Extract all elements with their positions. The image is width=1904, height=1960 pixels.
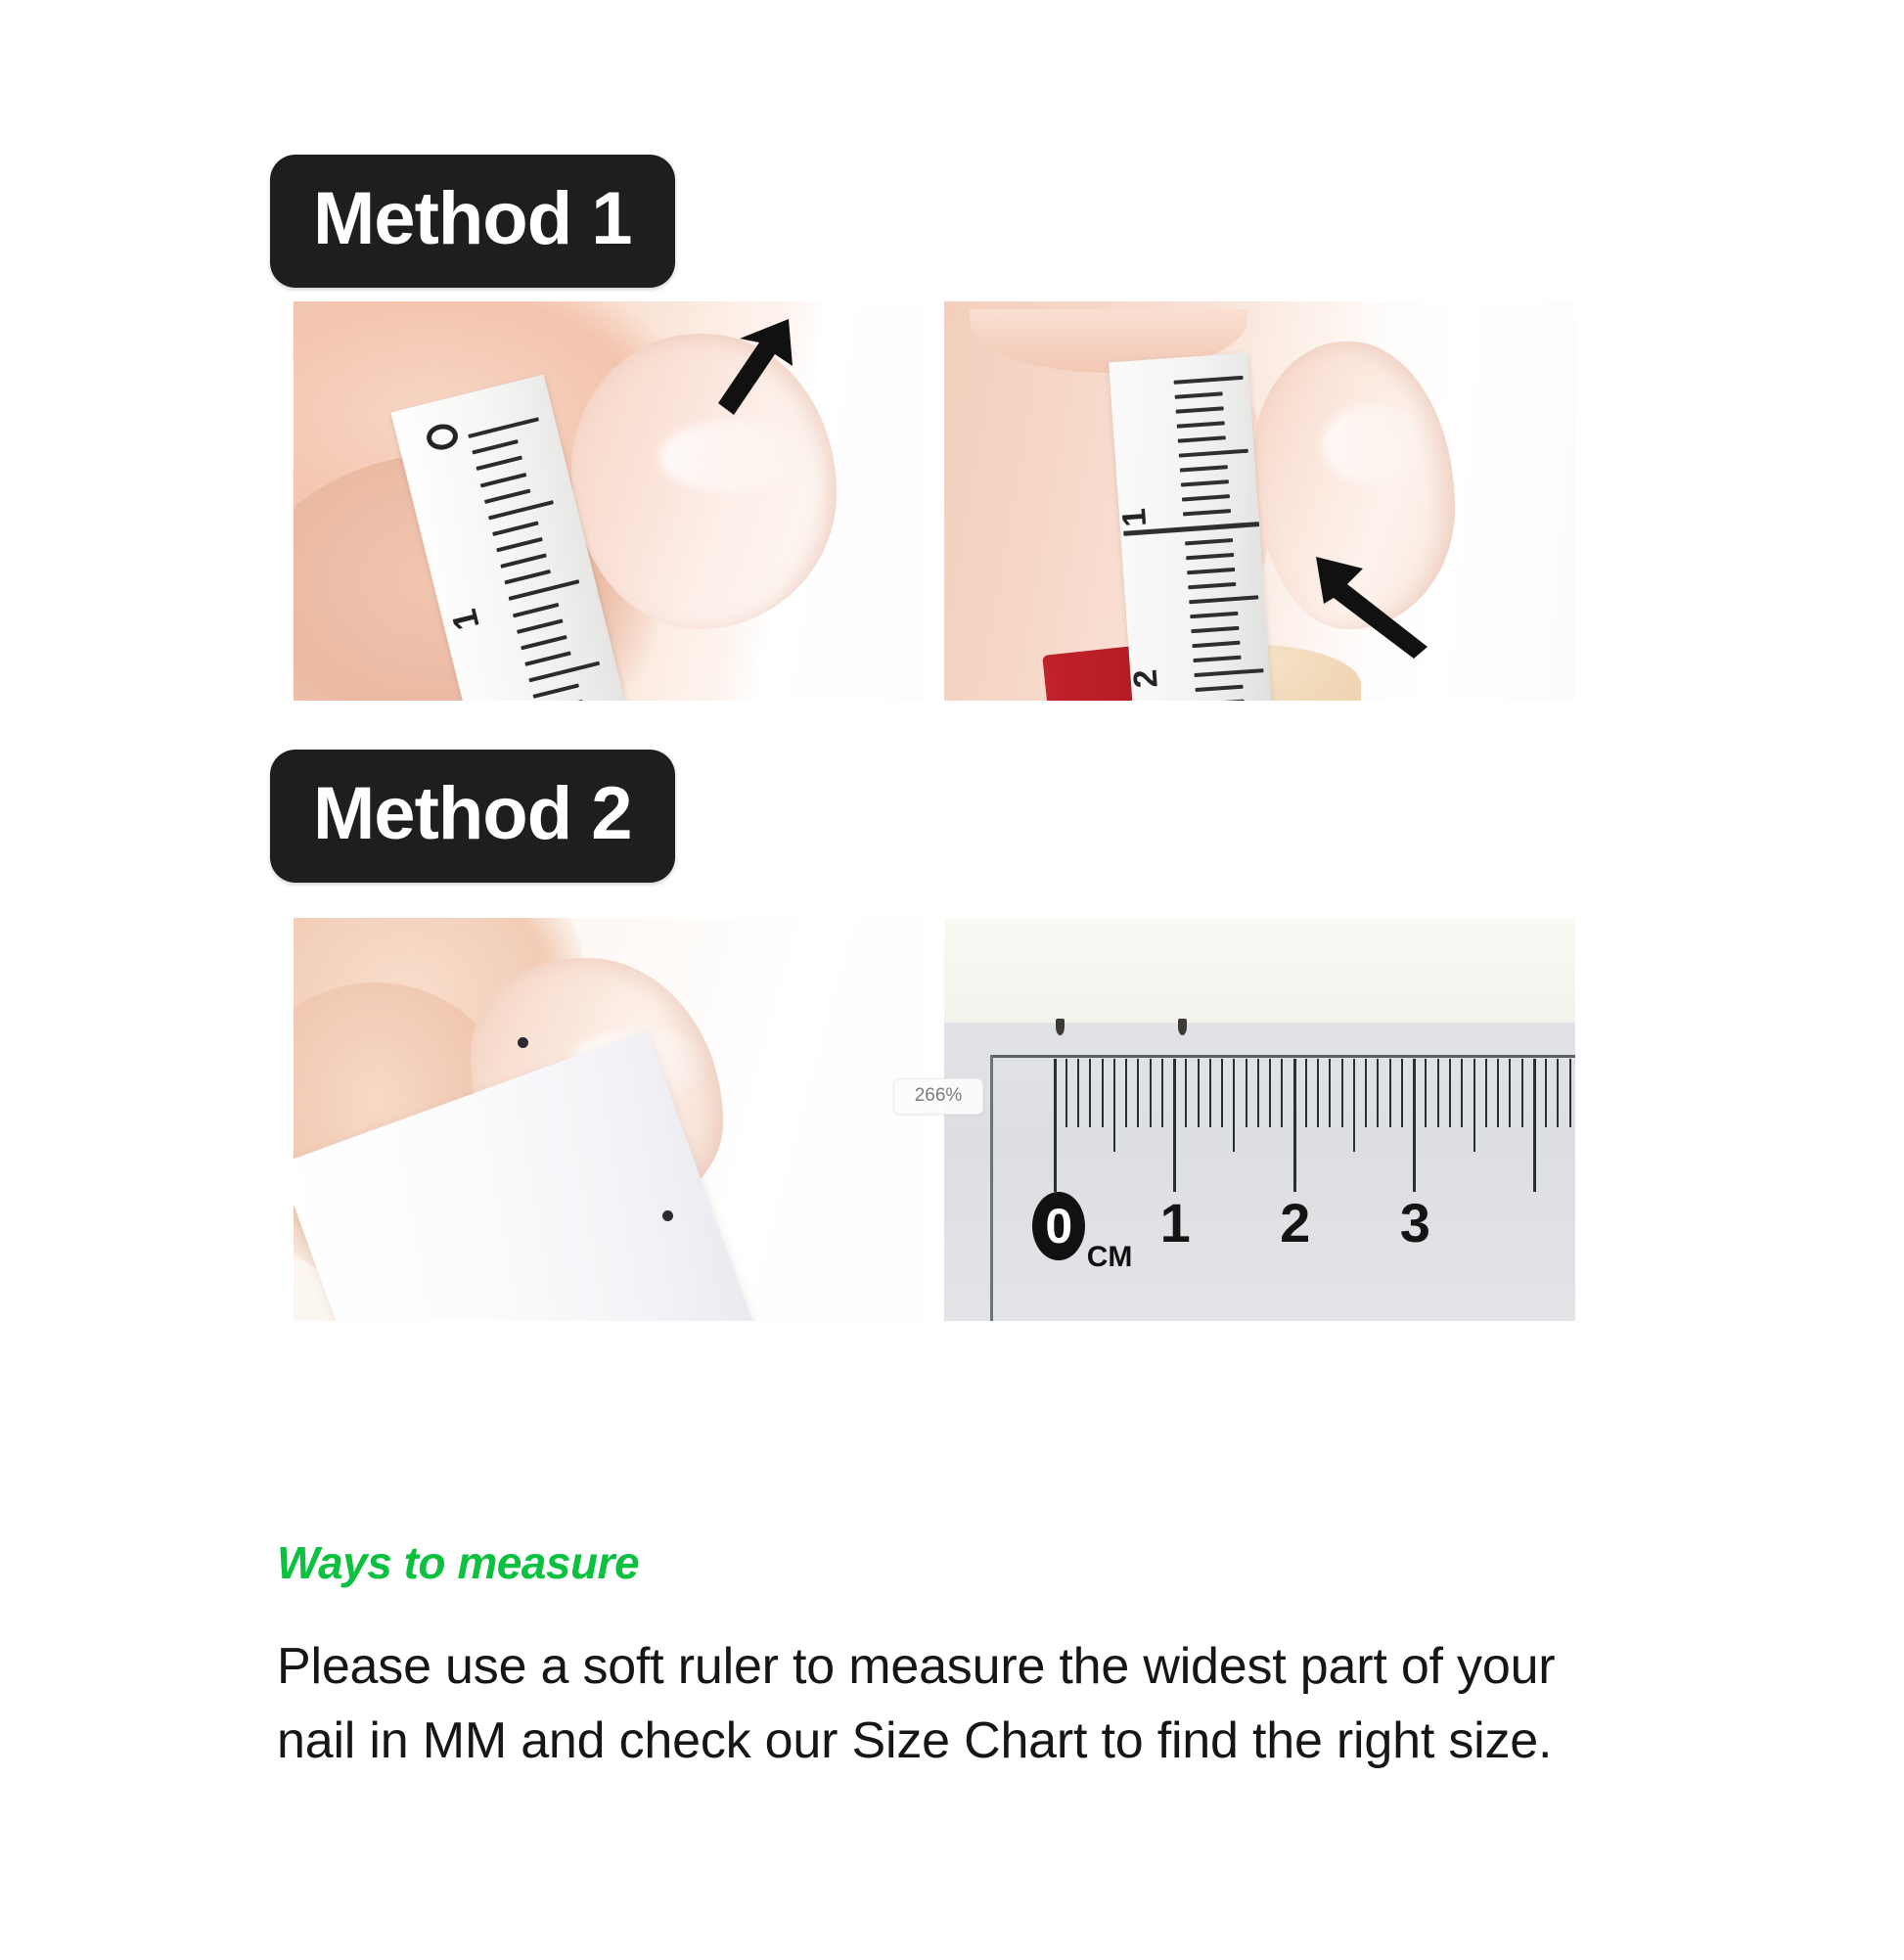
plastic-ruler-body [944, 1023, 1575, 1321]
section-heading: Ways to measure [277, 1536, 639, 1590]
pen-mark-right-icon [662, 1210, 673, 1221]
ruler-tick-label-2: 2 [1280, 1196, 1310, 1251]
method-2-photo-right: 0 CM 1 2 3 [944, 918, 1575, 1321]
photo-canvas: 0 CM 1 2 3 [944, 918, 1575, 1321]
method-1-badge: Method 1 [270, 155, 675, 288]
photo-canvas: 1 2 [944, 301, 1575, 701]
ruler-tick-label-3: 3 [1400, 1196, 1430, 1251]
pen-mark-left-icon [518, 1037, 528, 1048]
ruler-top-edge [991, 1055, 1575, 1058]
tape-label-two: 2 [1128, 668, 1162, 689]
photo-canvas: 1 [294, 301, 925, 701]
pointer-arrow-icon [1310, 553, 1435, 659]
ruler-left-edge [990, 1055, 993, 1321]
zoom-level-indicator: 266% [893, 1078, 983, 1115]
tape-label-one: 1 [446, 606, 485, 633]
pen-mark-left-icon [1056, 1019, 1065, 1035]
pointer-arrow-icon [691, 317, 798, 433]
ruler-tick-label-1: 1 [1160, 1196, 1191, 1251]
method-1-photo-left: 1 [294, 301, 925, 701]
soft-measuring-tape: 1 2 [1109, 353, 1273, 701]
method-1-photo-right: 1 2 [944, 301, 1575, 701]
method-2-badge: Method 2 [270, 750, 675, 883]
instruction-paragraph: Please use a soft ruler to measure the w… [277, 1630, 1647, 1779]
tape-label-one: 1 [1116, 507, 1151, 527]
fingernail-highlight [1323, 405, 1424, 485]
tape-zero-mark [425, 422, 459, 451]
size-guide-page: Method 1 [0, 0, 1904, 1960]
photo-canvas [294, 918, 925, 1321]
pen-mark-right-icon [1178, 1019, 1187, 1035]
method-2-photo-left [294, 918, 925, 1321]
paper-strip-surface [944, 918, 1575, 1023]
ruler-unit-label: CM [1087, 1241, 1133, 1274]
